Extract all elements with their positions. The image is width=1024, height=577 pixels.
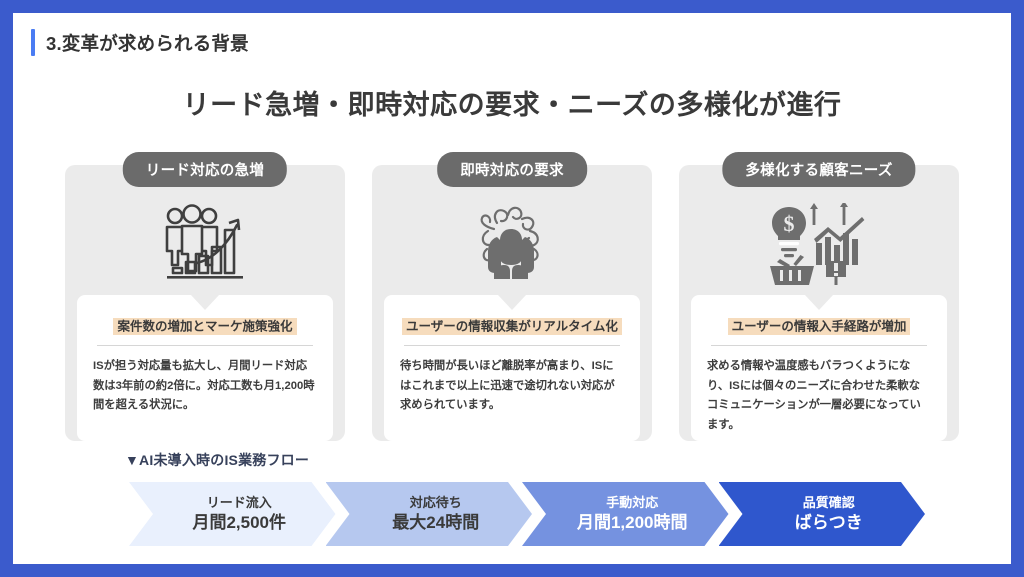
cards-row: リード対応の急増 [65,165,959,441]
card-badge: リード対応の急増 [123,152,287,187]
card-inner-panel: ユーザーの情報入手経路が増加 求める情報や温度感もバラつくようになり、ISには個… [691,295,947,441]
flow-step-value: 月間1,200時間 [577,512,688,533]
flow-step-value: ばらつき [795,512,863,533]
flow-step-title: 対応待ち [410,495,462,511]
flow-step-title: 手動対応 [606,495,658,511]
card-lead-surge: リード対応の急増 [65,165,345,441]
svg-text:$: $ [784,211,795,236]
slide-header: 3.変革が求められる背景 [31,29,249,56]
card-heading: ユーザーの情報収集がリアルタイム化 [402,318,622,335]
process-flow: リード流入 月間2,500件 対応待ち 最大24時間 手動対応 月間1,200時… [129,482,925,546]
panel-notch [498,295,526,310]
card-heading-wrap: ユーザーの情報入手経路が増加 [707,317,931,336]
flow-step-title: リード流入 [207,495,272,511]
header-title: 3.変革が求められる背景 [46,30,249,56]
flow-step-3: 手動対応 月間1,200時間 [522,482,729,546]
panel-notch [191,295,219,310]
lightbulb-chart-basket-icon: $ [691,201,947,287]
card-heading: 案件数の増加とマーケ施策強化 [113,318,296,335]
flow-step-title: 品質確認 [803,495,855,511]
card-heading: ユーザーの情報入手経路が増加 [728,318,911,335]
card-body: ISが担う対応量も拡大し、月間リード対応数は3年前の約2倍に。対応工数も月1,2… [93,357,317,415]
divider [97,345,313,346]
flow-label: ▼AI未導入時のIS業務フロー [125,450,309,470]
card-diverse-needs: 多様化する顧客ニーズ $ [679,165,959,441]
header-accent-bar [31,29,35,56]
card-heading-wrap: ユーザーの情報収集がリアルタイム化 [400,317,624,336]
page-title: リード急増・即時対応の要求・ニーズの多様化が進行 [13,83,1011,122]
card-heading-wrap: 案件数の増加とマーケ施策強化 [93,317,317,336]
flow-step-value: 月間2,500件 [192,512,286,533]
flow-step-4: 品質確認 ばらつき [719,482,926,546]
people-growth-chart-icon [77,201,333,287]
panel-notch [805,295,833,310]
card-body: 待ち時間が長いほど離脱率が高まり、ISにはこれまで以上に迅速で途切れない対応が求… [400,357,624,415]
slide-canvas: 3.変革が求められる背景 リード急増・即時対応の要求・ニーズの多様化が進行 リー… [13,13,1011,564]
card-inner-panel: 案件数の増加とマーケ施策強化 ISが担う対応量も拡大し、月間リード対応数は3年前… [77,295,333,441]
card-inner-panel: ユーザーの情報収集がリアルタイム化 待ち時間が長いほど離脱率が高まり、ISにはこ… [384,295,640,441]
card-instant-response: 即時対応の要求 [372,165,652,441]
flow-step-2: 対応待ち 最大24時間 [326,482,533,546]
stressed-person-icon [384,201,640,287]
divider [404,345,620,346]
card-body: 求める情報や温度感もバラつくようになり、ISには個々のニーズに合わせた柔軟なコミ… [707,357,931,435]
divider [711,345,927,346]
flow-step-value: 最大24時間 [392,512,479,533]
card-badge: 即時対応の要求 [437,152,587,187]
card-badge: 多様化する顧客ニーズ [722,152,915,187]
flow-step-1: リード流入 月間2,500件 [129,482,336,546]
slide-frame: 3.変革が求められる背景 リード急増・即時対応の要求・ニーズの多様化が進行 リー… [0,0,1024,577]
